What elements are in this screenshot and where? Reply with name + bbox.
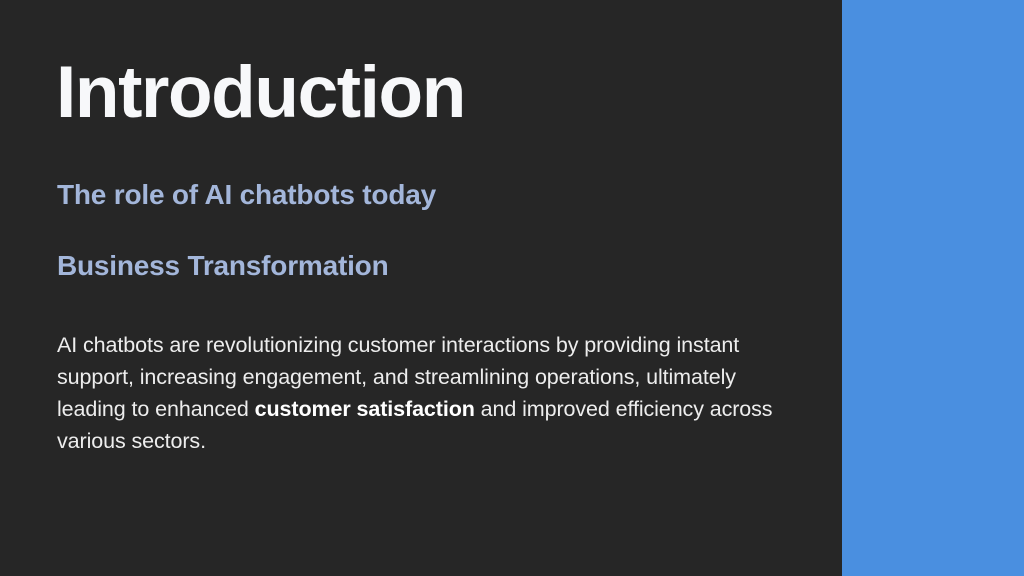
page-title: Introduction xyxy=(56,56,465,129)
body-text-emphasis: customer satisfaction xyxy=(255,397,475,421)
slide-subtitle-secondary: Business Transformation xyxy=(57,251,388,282)
slide-subtitle-primary: The role of AI chatbots today xyxy=(57,180,436,211)
slide-root: Introduction The role of AI chatbots tod… xyxy=(0,0,1024,576)
slide-body-paragraph: AI chatbots are revolutionizing customer… xyxy=(57,329,787,457)
slide-content-panel: Introduction The role of AI chatbots tod… xyxy=(0,0,842,576)
accent-panel xyxy=(842,0,1024,576)
